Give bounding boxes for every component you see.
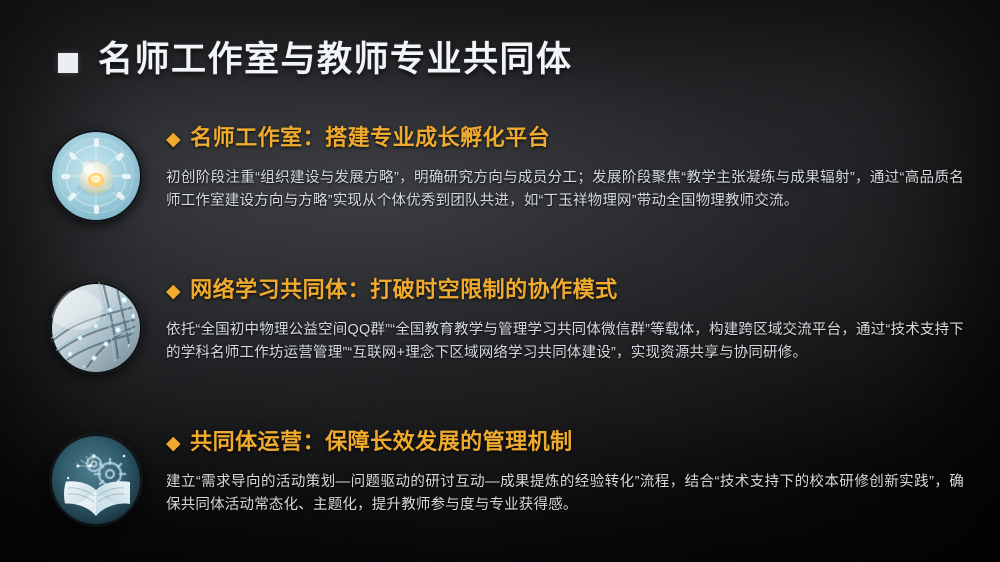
section-paragraph: 建立“需求导向的活动策划—问题驱动的研讨互动—成果提炼的经验转化”流程，结合“技… <box>166 471 964 518</box>
page-title: 名师工作室与教师专业共同体 <box>98 40 573 79</box>
section-body: ◆ 网络学习共同体：打破时空限制的协作模式 依托“全国初中物理公益空间QQ群”“… <box>142 268 1000 366</box>
presentation-slide: 名师工作室与教师专业共同体 <box>0 0 1000 562</box>
section-paragraph: 初创阶段注重“组织建设与发展方略”，明确研究方向与成员分工；发展阶段聚焦“教学主… <box>166 167 964 214</box>
square-bullet-icon <box>58 53 78 73</box>
network-nodes-icon <box>50 282 142 374</box>
section-heading-text: 共同体运营：保障长效发展的管理机制 <box>190 428 573 457</box>
section-paragraph: 依托“全国初中物理公益空间QQ群”“全国教育教学与管理学习共同体微信群”等载体，… <box>166 319 964 366</box>
open-book-gears-icon <box>50 434 142 526</box>
section-heading: ◆ 网络学习共同体：打破时空限制的协作模式 <box>166 276 964 305</box>
section-heading: ◆ 共同体运营：保障长效发展的管理机制 <box>166 428 964 457</box>
section-heading-text: 名师工作室：搭建专业成长孵化平台 <box>190 124 550 153</box>
section-body: ◆ 名师工作室：搭建专业成长孵化平台 初创阶段注重“组织建设与发展方略”，明确研… <box>142 116 1000 214</box>
diamond-bullet-icon: ◆ <box>166 434 181 453</box>
section-item: ◆ 名师工作室：搭建专业成长孵化平台 初创阶段注重“组织建设与发展方略”，明确研… <box>0 116 1000 256</box>
section-item: ◆ 共同体运营：保障长效发展的管理机制 建立“需求导向的活动策划—问题驱动的研讨… <box>0 420 1000 560</box>
section-item: ◆ 网络学习共同体：打破时空限制的协作模式 依托“全国初中物理公益空间QQ群”“… <box>0 268 1000 408</box>
diamond-bullet-icon: ◆ <box>166 130 181 149</box>
section-heading: ◆ 名师工作室：搭建专业成长孵化平台 <box>166 124 964 153</box>
diamond-bullet-icon: ◆ <box>166 282 181 301</box>
section-list: ◆ 名师工作室：搭建专业成长孵化平台 初创阶段注重“组织建设与发展方略”，明确研… <box>0 116 1000 562</box>
section-heading-text: 网络学习共同体：打破时空限制的协作模式 <box>190 276 618 305</box>
slide-title-row: 名师工作室与教师专业共同体 <box>58 40 573 79</box>
glowing-lightbulb-icon <box>50 130 142 222</box>
section-body: ◆ 共同体运营：保障长效发展的管理机制 建立“需求导向的活动策划—问题驱动的研讨… <box>142 420 1000 518</box>
